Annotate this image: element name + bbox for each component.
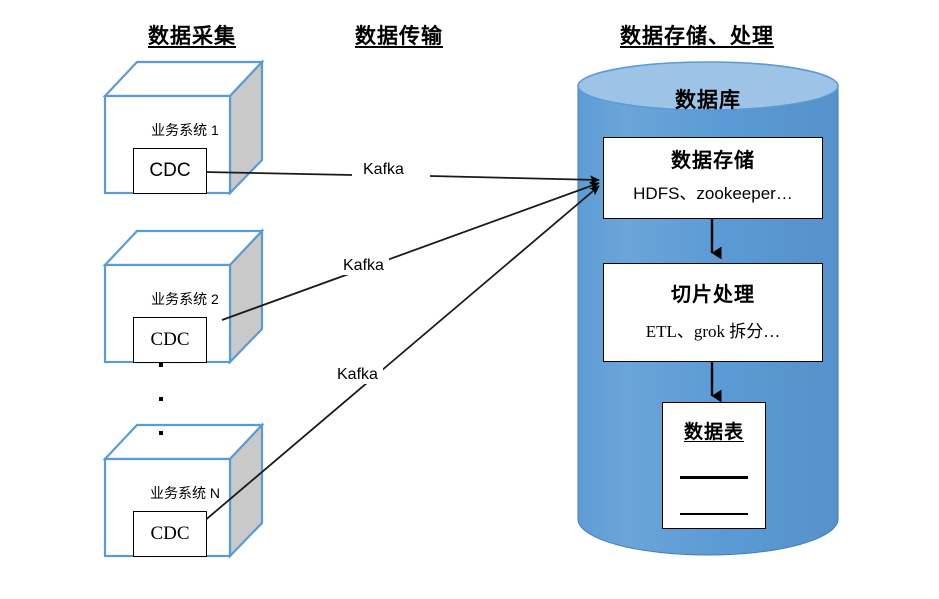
source-cube-1-label: 业务系统 1 (121, 120, 249, 140)
source-cube-3-label: 业务系统 N (121, 483, 249, 503)
cdc-box-2[interactable]: CDC (133, 317, 207, 363)
kafka-label-2: Kafka (338, 257, 389, 275)
diagram-canvas: 数据采集 数据传输 数据存储、处理 (0, 0, 939, 581)
stage-box-storage-subtitle: HDFS、zookeeper… (604, 179, 822, 204)
source-cube-2-label: 业务系统 2 (121, 289, 249, 309)
kafka-label-3: Kafka (332, 366, 383, 384)
kafka-label-1: Kafka (358, 161, 409, 179)
cdc-box-1[interactable]: CDC (133, 148, 207, 194)
stage-box-storage-title: 数据存储 (604, 144, 822, 173)
database-name: 数据库 (578, 84, 838, 114)
stage-box-storage[interactable]: 数据存储 HDFS、zookeeper… (603, 137, 823, 219)
stage-box-processing[interactable]: 切片处理 ETL、grok 拆分… (603, 263, 823, 362)
stage-box-table[interactable]: 数据表 (662, 402, 766, 529)
table-row (680, 513, 748, 516)
stage-box-table-title: 数据表 (663, 417, 765, 444)
source-cube-2-content: 业务系统 2 CDC (105, 265, 285, 405)
source-cube-3-content: 业务系统 N CDC (105, 459, 285, 599)
database-name-wrap: 数据库 (578, 62, 838, 110)
table-row (680, 476, 748, 479)
cdc-box-3[interactable]: CDC (133, 511, 207, 557)
stage-box-processing-title: 切片处理 (604, 278, 822, 307)
source-cube-1-content: 业务系统 1 CDC (105, 96, 285, 236)
stage-box-processing-subtitle: ETL、grok 拆分… (604, 317, 822, 342)
